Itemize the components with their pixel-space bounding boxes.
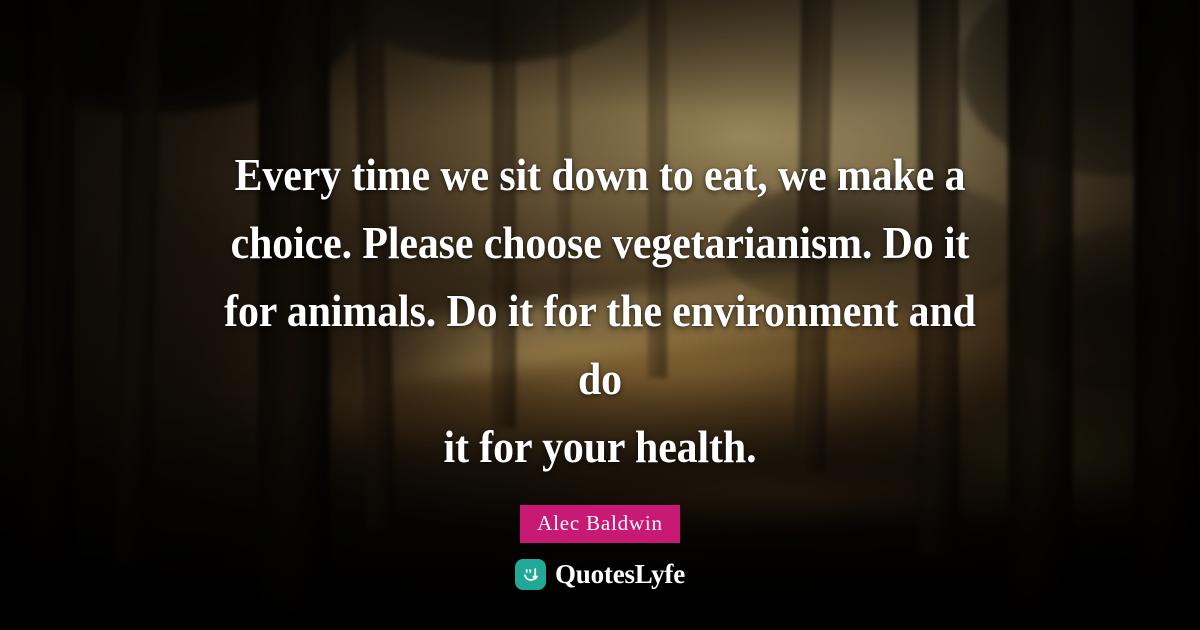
smiley-quote-icon — [515, 559, 546, 590]
quote-line: it for your health. — [444, 422, 757, 472]
brand-logo[interactable]: QuotesLyfe — [0, 559, 1200, 590]
quote-text: Every time we sit down to eat, we make a… — [209, 141, 990, 481]
author-badge[interactable]: Alec Baldwin — [520, 505, 680, 543]
card-content: Every time we sit down to eat, we make a… — [0, 0, 1200, 630]
quote-card: Every time we sit down to eat, we make a… — [0, 0, 1200, 630]
author-area: Alec Baldwin — [520, 505, 680, 543]
brand-name: QuotesLyfe — [555, 561, 685, 588]
quote-line: choice. Please choose vegetarianism. Do … — [231, 218, 970, 268]
quote-line: Every time we sit down to eat, we make a — [235, 150, 966, 200]
quote-line: for animals. Do it for the environment a… — [224, 286, 976, 404]
